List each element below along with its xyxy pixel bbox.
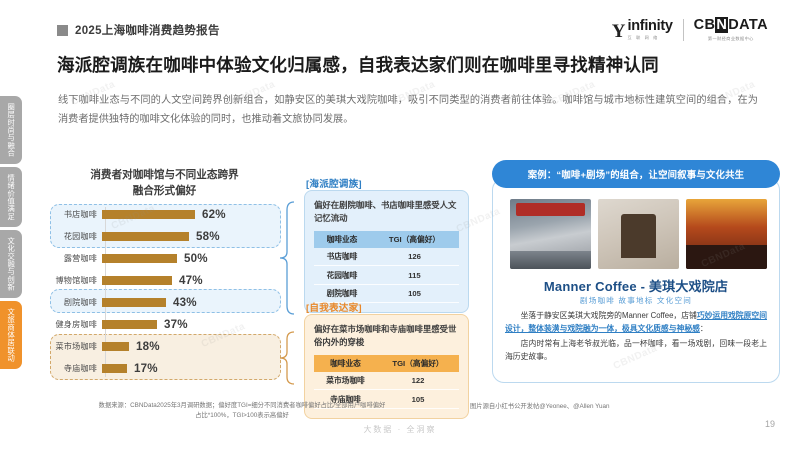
report-title: 2025上海咖啡消费趋势报告 bbox=[75, 22, 220, 38]
bar-fill bbox=[102, 364, 127, 373]
bar-category-label: 书店咖啡 bbox=[46, 209, 102, 220]
bar-fill bbox=[102, 210, 195, 219]
cbndata-logo: CBNDATA 第一财经商业数据中心 bbox=[694, 18, 768, 42]
cbn-logo-part1: CB bbox=[694, 17, 716, 33]
col-header-category: 咖啡业态 bbox=[314, 355, 377, 372]
photo-theatre-facade-image bbox=[510, 199, 591, 269]
logo-divider bbox=[683, 19, 684, 41]
case-body-text-post: ： bbox=[700, 324, 708, 333]
cell-category: 花园咖啡 bbox=[314, 266, 370, 284]
segment-description: 偏好在剧院咖啡、书店咖啡里感受人文记忆流动 bbox=[314, 199, 459, 225]
sidebar-tabs: 圈层时尚与融合 情绪价值满足 文化交融与创新 文旅商体居联动 bbox=[0, 96, 22, 372]
table-header-row: 咖啡业态 TGI（高偏好） bbox=[314, 355, 459, 372]
cell-tgi: 122 bbox=[377, 372, 459, 390]
brand-logos: Y infinity 互 联 网 络 CBNDATA 第一财经商业数据中心 bbox=[612, 18, 768, 42]
bar-fill bbox=[102, 254, 177, 263]
case-study-banner: 案例：“咖啡+剧场”的组合，让空间叙事与文化共生 bbox=[492, 160, 780, 188]
chart-bar-row: 寺庙咖啡 17% bbox=[46, 358, 158, 379]
bar-fill bbox=[102, 320, 157, 329]
sidebar-item-label: 文化交融与创新 bbox=[7, 237, 15, 291]
bar-value-label: 50% bbox=[184, 252, 208, 265]
brace-connector-blue bbox=[278, 200, 300, 316]
chart-title-line2: 融合形式偏好 bbox=[62, 184, 267, 200]
source-note-line1: 数据来源：CBNData2025年3月调研数据；偏好度TGI=细分不同消费者咖啡… bbox=[52, 401, 432, 411]
case-study-tags: 剧场咖啡 故事地标 文化空间 bbox=[492, 295, 780, 306]
brace-connector-tan bbox=[278, 330, 300, 386]
sidebar-item-label: 情绪价值满足 bbox=[7, 174, 15, 220]
bar-fill bbox=[102, 342, 129, 351]
cbn-logo-x-icon: N bbox=[715, 17, 728, 33]
footer-brand-slogan: 大数据 · 全洞察 bbox=[0, 424, 800, 435]
col-header-category: 咖啡业态 bbox=[314, 231, 370, 248]
bar-value-label: 58% bbox=[196, 230, 220, 243]
sidebar-item-label: 文旅商体居联动 bbox=[7, 308, 15, 362]
segment-card-haipai: 偏好在剧院咖啡、书店咖啡里感受人文记忆流动 咖啡业态 TGI（高偏好） 书店咖啡… bbox=[304, 190, 469, 313]
source-note-left: 数据来源：CBNData2025年3月调研数据；偏好度TGI=细分不同消费者咖啡… bbox=[52, 401, 432, 422]
case-body-paragraph-2: 店内时常有上海老爷叔光临，品一杯咖啡，看一场戏剧，回味一段老上海历史故事。 bbox=[505, 338, 767, 364]
bar-category-label: 露营咖啡 bbox=[46, 253, 102, 264]
slide-root: 2025上海咖啡消费趋势报告 Y infinity 互 联 网 络 CBNDAT… bbox=[0, 0, 800, 451]
chart-bar-row: 花园咖啡 58% bbox=[46, 226, 220, 247]
chart-bar-row: 剧院咖啡 43% bbox=[46, 292, 197, 313]
photo-cafe-interior-image bbox=[686, 199, 767, 269]
case-body-text-pre: 坐落于静安区美琪大戏院旁的Manner Coffee，店铺 bbox=[521, 311, 697, 320]
bar-category-label: 剧院咖啡 bbox=[46, 297, 102, 308]
cbn-logo-sub: 第一财经商业数据中心 bbox=[708, 36, 754, 42]
bar-category-label: 博物馆咖啡 bbox=[46, 275, 102, 286]
chart-title: 消费者对咖啡馆与不同业态跨界 融合形式偏好 bbox=[62, 168, 267, 200]
table-row: 书店咖啡 126 bbox=[314, 248, 459, 266]
bar-category-label: 菜市场咖啡 bbox=[46, 341, 102, 352]
case-study-body: 坐落于静安区美琪大戏院旁的Manner Coffee，店铺巧妙运用戏院原空间设计… bbox=[505, 310, 767, 365]
preference-bar-chart: 书店咖啡 62% 花园咖啡 58% 露营咖啡 50% 博物馆咖啡 47% 剧院咖… bbox=[46, 203, 286, 381]
page-number: 19 bbox=[765, 419, 775, 429]
cell-category: 书店咖啡 bbox=[314, 248, 370, 266]
case-study-title: Manner Coffee - 美琪大戏院店 bbox=[492, 276, 780, 295]
segment-tag-selfexpress: [自我表达家] bbox=[306, 300, 362, 314]
chart-bar-row: 露营咖啡 50% bbox=[46, 248, 208, 269]
case-photo-gallery bbox=[510, 199, 767, 269]
page-lede: 线下咖啡业态与不同的人文空间跨界创新组合，如静安区的美琪大戏院咖啡，吸引不同类型… bbox=[58, 92, 758, 130]
col-header-tgi: TGI（高偏好） bbox=[377, 355, 459, 372]
cbn-logo-part2: DATA bbox=[728, 17, 768, 33]
table-row: 菜市场咖啡 122 bbox=[314, 372, 459, 390]
bar-category-label: 健身房咖啡 bbox=[46, 319, 102, 330]
infinity-logo-name: infinity bbox=[628, 19, 673, 34]
table-row: 花园咖啡 115 bbox=[314, 266, 459, 284]
infinity-logo-sub: 互 联 网 络 bbox=[628, 35, 659, 41]
chart-bar-row: 书店咖啡 62% bbox=[46, 204, 226, 225]
chart-bar-row: 健身房咖啡 37% bbox=[46, 314, 188, 335]
segment-tag-haipai: [海派腔调族] bbox=[306, 176, 362, 190]
sidebar-item-tourism-linkage[interactable]: 文旅商体居联动 bbox=[0, 301, 22, 369]
cell-tgi: 126 bbox=[370, 248, 459, 266]
header-bullet-icon bbox=[57, 25, 68, 36]
infinity-mark-icon: Y bbox=[612, 23, 626, 41]
cell-category: 菜市场咖啡 bbox=[314, 372, 377, 390]
bar-fill bbox=[102, 232, 189, 241]
bar-category-label: 寺庙咖啡 bbox=[46, 363, 102, 374]
page-headline: 海派腔调族在咖啡中体验文化归属感，自我表达家们则在咖啡里寻找精神认同 bbox=[57, 52, 659, 77]
table-header-row: 咖啡业态 TGI（高偏好） bbox=[314, 231, 459, 248]
sidebar-item-circle-fashion[interactable]: 圈层时尚与融合 bbox=[0, 96, 22, 164]
infinity-logo: Y infinity 互 联 网 络 bbox=[612, 19, 673, 42]
cell-tgi: 115 bbox=[370, 266, 459, 284]
chart-bar-row: 菜市场咖啡 18% bbox=[46, 336, 160, 357]
bar-value-label: 43% bbox=[173, 296, 197, 309]
bar-value-label: 47% bbox=[179, 274, 203, 287]
cell-tgi: 105 bbox=[370, 284, 459, 302]
col-header-tgi: TGI（高偏好） bbox=[370, 231, 459, 248]
sidebar-item-culture-fusion[interactable]: 文化交融与创新 bbox=[0, 230, 22, 298]
case-body-paragraph-1: 坐落于静安区美琪大戏院旁的Manner Coffee，店铺巧妙运用戏院原空间设计… bbox=[505, 310, 767, 336]
bar-value-label: 37% bbox=[164, 318, 188, 331]
source-note-line2: 占比*100%，TGI>100表示高偏好 bbox=[52, 411, 432, 421]
bar-fill bbox=[102, 298, 166, 307]
bar-value-label: 18% bbox=[136, 340, 160, 353]
sidebar-item-emotional-value[interactable]: 情绪价值满足 bbox=[0, 167, 22, 227]
chart-title-line1: 消费者对咖啡馆与不同业态跨界 bbox=[62, 168, 267, 184]
sidebar-item-label: 圈层时尚与融合 bbox=[7, 103, 15, 157]
bar-value-label: 62% bbox=[202, 208, 226, 221]
bar-value-label: 17% bbox=[134, 362, 158, 375]
segment-description: 偏好在菜市场咖啡和寺庙咖啡里感受世俗内外的穿梭 bbox=[314, 323, 459, 349]
tgi-table-haipai: 咖啡业态 TGI（高偏好） 书店咖啡 126 花园咖啡 115 剧院咖啡 105 bbox=[314, 231, 459, 303]
bar-category-label: 花园咖啡 bbox=[46, 231, 102, 242]
bar-fill bbox=[102, 276, 172, 285]
photo-theatre-entrance-image bbox=[598, 199, 679, 269]
source-note-right: 图片源自小红书公开发帖@Yeonee、@Allen Yuan bbox=[470, 401, 770, 410]
chart-bar-row: 博物馆咖啡 47% bbox=[46, 270, 203, 291]
